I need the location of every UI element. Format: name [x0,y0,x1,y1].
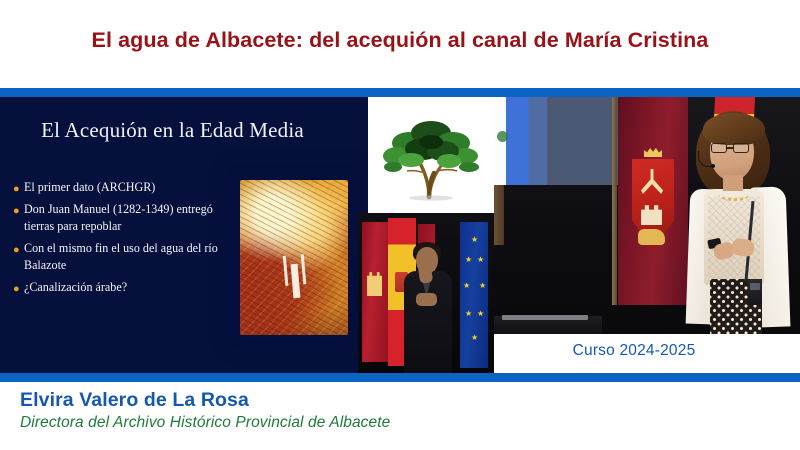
eu-star-icon: ★ [465,256,472,264]
presenter-right-hand [731,238,755,258]
page-title: El agua de Albacete: del acequión al can… [0,28,800,53]
header-bar: El agua de Albacete: del acequión al can… [0,0,800,88]
presenter-figure [670,111,800,334]
castle-emblem-icon [367,270,382,296]
bullet-text: Don Juan Manuel (1282-1349) entregó tier… [24,201,238,235]
curso-label: Curso 2024-2025 [494,342,774,360]
stage-top-rule [0,88,800,97]
wireless-transmitter [748,279,762,305]
tree-illustration-image [368,97,494,213]
list-item: ● Don Juan Manuel (1282-1349) entregó ti… [13,201,238,235]
interpreter-resting-hand [416,293,437,306]
presenter-hair-front [703,113,765,145]
curso-strip: Curso 2024-2025 [494,334,800,373]
crest-lion-icon [638,229,665,245]
tree-icon [379,113,483,201]
bullet-dot-icon: ● [13,206,24,217]
eu-star-icon: ★ [477,310,484,318]
castilla-la-mancha-coat-of-arms [632,159,674,251]
presenter-necklace [718,187,750,201]
projection-logo-icon [497,131,508,142]
eu-star-icon: ★ [471,236,478,244]
bullet-dot-icon: ● [13,284,24,295]
list-item: ● ¿Canalización árabe? [13,279,238,296]
slide-bullet-list: ● El primer dato (ARCHGR) ● Don Juan Man… [13,179,238,301]
video-composite-stage: El Acequión en la Edad Media ● El primer… [0,88,800,382]
list-item: ● El primer dato (ARCHGR) [13,179,238,196]
slide-heading: El Acequión en la Edad Media [0,118,345,143]
bullet-text: Con el mismo fin el uso del agua del río… [24,240,238,274]
eu-star-icon: ★ [465,310,472,318]
illuminated-manuscript-image [240,180,348,335]
laptop-edge [502,315,588,320]
footer-bar: Elvira Valero de La Rosa Directora del A… [0,382,800,450]
bullet-dot-icon: ● [13,245,24,256]
flag-castilla-la-mancha [362,222,388,362]
bullet-text: ¿Canalización árabe? [24,279,127,296]
eu-star-icon: ★ [463,282,470,290]
list-item: ● Con el mismo fin el uso del agua del r… [13,240,238,274]
bullet-dot-icon: ● [13,184,24,195]
speaker-name: Elvira Valero de La Rosa [20,389,249,412]
eu-star-icon: ★ [477,256,484,264]
interpreter-signing-hand [418,264,433,284]
flag-european-union: ★ ★ ★ ★ ★ ★ ★ ★ [460,222,488,368]
stage-bottom-rule [0,373,800,382]
interpreter-figure [402,241,454,373]
presentation-slide: El Acequión en la Edad Media ● El primer… [0,97,368,373]
crest-crown-icon [644,146,662,157]
eu-star-icon: ★ [479,282,486,290]
flag-pole [612,97,617,305]
eu-star-icon: ★ [471,334,478,342]
presenter-glasses [711,143,753,153]
wooden-panel [494,185,504,245]
presenter-video [494,97,800,334]
speaker-role: Directora del Archivo Histórico Provinci… [20,414,390,432]
bullet-text: El primer dato (ARCHGR) [24,179,155,196]
headset-microphone-tip [711,164,715,168]
projection-screen [494,97,627,185]
sign-language-interpreter-video: ★ ★ ★ ★ ★ ★ ★ ★ [358,212,494,373]
